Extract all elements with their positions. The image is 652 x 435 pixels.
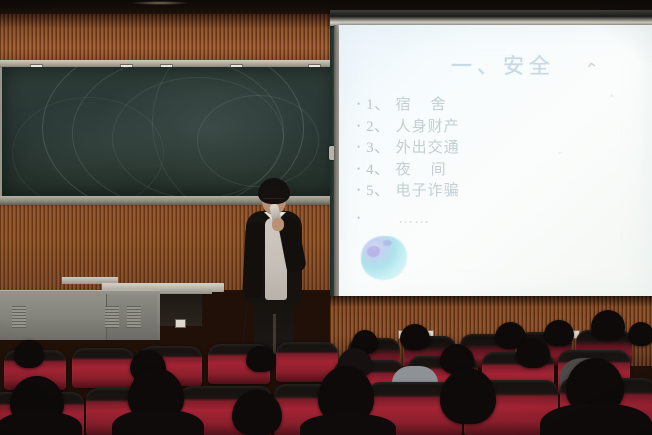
bird-icon: ⌃ bbox=[584, 60, 600, 79]
presenter-hair-fringe bbox=[259, 187, 289, 198]
bullet-number: 4、 bbox=[366, 160, 390, 182]
presenter bbox=[238, 178, 312, 360]
audience-head bbox=[232, 390, 282, 435]
wood-paneling-upper-left bbox=[0, 14, 336, 62]
audience-head bbox=[591, 310, 625, 340]
bullet-number: 3、 bbox=[366, 138, 390, 160]
list-item: • 5、 电子诈骗 bbox=[357, 181, 460, 203]
cabinet-vent bbox=[105, 306, 119, 328]
bullet-number: 2、 bbox=[366, 117, 390, 139]
bullet-text: 夜 间 bbox=[396, 160, 447, 182]
bullet-text: …… bbox=[398, 209, 430, 231]
audience-shoulder bbox=[112, 410, 204, 435]
bullet-dot-icon: • bbox=[357, 214, 360, 223]
audience-head bbox=[246, 346, 276, 372]
cabinet-vent bbox=[12, 306, 26, 328]
audience-head bbox=[544, 320, 574, 346]
presenter-left-arm bbox=[242, 222, 265, 299]
audience-shoulder bbox=[540, 404, 652, 435]
bullet-dot-icon: • bbox=[357, 122, 360, 131]
bird-icon: ⌃ bbox=[607, 95, 616, 106]
presenter-hand bbox=[272, 218, 284, 231]
slide-title: 一、安全 bbox=[451, 50, 555, 80]
bullet-text: 电子诈骗 bbox=[396, 181, 460, 203]
list-item: • …… bbox=[357, 209, 460, 231]
bullet-dot-icon: • bbox=[357, 143, 360, 152]
bullet-text: 外出交通 bbox=[396, 138, 460, 160]
list-item: • 3、 外出交通 bbox=[357, 138, 460, 160]
audience-head bbox=[400, 324, 430, 350]
bullet-text: 人身财产 bbox=[396, 117, 460, 139]
globe-icon bbox=[361, 236, 407, 280]
audience-head bbox=[628, 322, 652, 346]
audience-head bbox=[14, 340, 44, 368]
slide-bullet-list: • 1、 宿 舍 • 2、 人身财产 • 3、 外出交通 • 4、 夜 间 • bbox=[357, 95, 460, 230]
audience-head bbox=[516, 338, 550, 368]
list-item: • 1、 宿 舍 bbox=[357, 95, 460, 117]
audience-head bbox=[440, 368, 496, 424]
presenter-leg-gap bbox=[273, 314, 276, 354]
audience-shoulder bbox=[0, 412, 82, 435]
bird-icon: ⌃ bbox=[556, 150, 566, 161]
bullet-dot-icon: • bbox=[357, 100, 360, 109]
bullet-dot-icon: • bbox=[357, 165, 360, 174]
cabinet-vent bbox=[127, 306, 141, 328]
bullet-text: 宿 舍 bbox=[396, 95, 447, 117]
projection-screen: 一、安全 • 1、 宿 舍 • 2、 人身财产 • 3、 外出交通 • 4、 夜… bbox=[339, 25, 652, 302]
bullet-number: 5、 bbox=[366, 181, 390, 203]
wall-outlet[interactable] bbox=[175, 319, 186, 328]
lecture-hall-photo: 一、安全 • 1、 宿 舍 • 2、 人身财产 • 3、 外出交通 • 4、 夜… bbox=[0, 0, 652, 435]
list-item: • 4、 夜 间 bbox=[357, 160, 460, 182]
projection-screen-housing bbox=[330, 10, 652, 26]
bullet-number: 1、 bbox=[366, 95, 390, 117]
list-item: • 2、 人身财产 bbox=[357, 117, 460, 139]
audience-shoulder bbox=[300, 414, 396, 435]
bullet-dot-icon: • bbox=[357, 186, 360, 195]
auditorium-seat bbox=[72, 348, 134, 388]
